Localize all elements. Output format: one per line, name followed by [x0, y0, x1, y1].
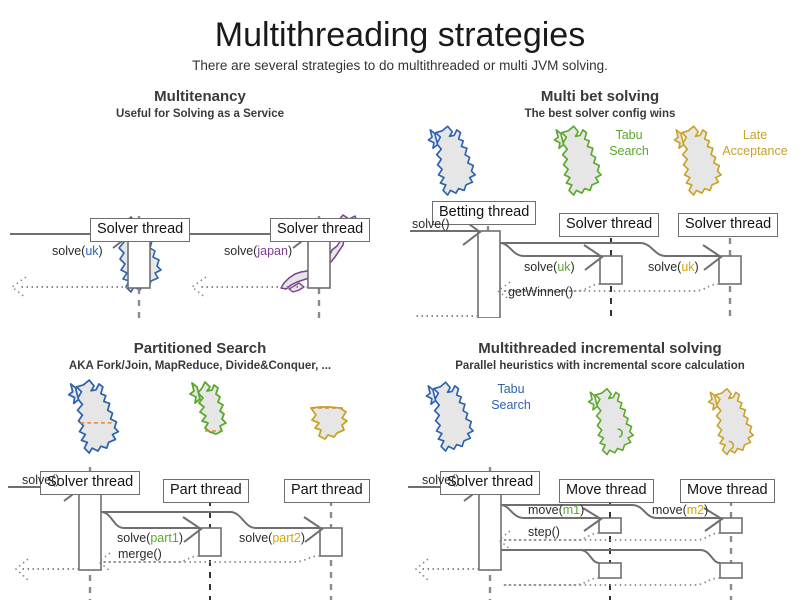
- panel-partitioned-search: Partitioned Search AKA Fork/Join, MapRed…: [0, 340, 400, 600]
- call-prefix: move(: [652, 503, 687, 517]
- lifeline-label: Solver thread: [47, 474, 133, 490]
- call-prefix: solve(: [524, 260, 557, 274]
- multitenancy-sequence-diagram: [0, 88, 400, 318]
- call-suffix: ): [695, 260, 699, 274]
- call-label-solve-part2: solve(part2): [239, 532, 305, 545]
- lifeline-label: Solver thread: [277, 221, 363, 237]
- lifeline-label: Move thread: [687, 482, 768, 498]
- call-suffix: ): [704, 503, 708, 517]
- call-prefix: solve(: [224, 244, 257, 258]
- call-arg: uk: [85, 244, 98, 258]
- call-label-solve-japan: solve(japan): [224, 245, 292, 258]
- call-prefix: solve(: [648, 260, 681, 274]
- lifeline-label: Solver thread: [97, 221, 183, 237]
- call-prefix: step(): [528, 525, 560, 539]
- page-subtitle: There are several strategies to do multi…: [0, 58, 800, 73]
- lifeline-label: Part thread: [291, 482, 363, 498]
- call-prefix: move(: [528, 503, 563, 517]
- call-prefix: solve(: [117, 531, 150, 545]
- call-arg: uk: [557, 260, 570, 274]
- lifeline-label: Solver thread: [447, 474, 533, 490]
- call-prefix: merge(): [118, 547, 162, 561]
- call-suffix: ): [288, 244, 292, 258]
- call-suffix: ): [99, 244, 103, 258]
- lifeline-part-thread-1[interactable]: Part thread: [163, 479, 249, 503]
- call-suffix: ): [301, 531, 305, 545]
- call-suffix: ): [571, 260, 575, 274]
- panel-multi-bet-solving: Multi bet solving The best solver config…: [400, 88, 800, 318]
- lifeline-solver-thread-1[interactable]: Solver thread: [90, 218, 190, 242]
- call-label-solve: solve(): [22, 474, 60, 487]
- call-label-solve: solve(): [412, 218, 450, 231]
- lifeline-move-thread-2[interactable]: Move thread: [680, 479, 775, 503]
- call-prefix: solve(): [22, 473, 60, 487]
- lifeline-label: Solver thread: [685, 216, 771, 232]
- multithreaded-incremental-sequence-diagram: [400, 340, 800, 600]
- call-label-merge: merge(): [118, 548, 162, 561]
- call-arg: m2: [687, 503, 704, 517]
- call-label-step: step(): [528, 526, 560, 539]
- lifeline-label: Solver thread: [566, 216, 652, 232]
- call-label-solve: solve(): [422, 474, 460, 487]
- call-label-move-m1: move(m1): [528, 504, 584, 517]
- call-prefix: solve(: [239, 531, 272, 545]
- call-label-solve-part1: solve(part1): [117, 532, 183, 545]
- lifeline-label: Betting thread: [439, 204, 529, 220]
- panel-multitenancy: Multitenancy Useful for Solving as a Ser…: [0, 88, 400, 318]
- call-prefix: solve(): [412, 217, 450, 231]
- lifeline-solver-thread-1[interactable]: Solver thread: [559, 213, 659, 237]
- call-arg: japan: [257, 244, 288, 258]
- call-prefix: getWinner(): [508, 285, 573, 299]
- lifeline-move-thread-1[interactable]: Move thread: [559, 479, 654, 503]
- call-label-solve-uk: solve(uk): [52, 245, 103, 258]
- call-arg: uk: [681, 260, 694, 274]
- page-title: Multithreading strategies: [0, 16, 800, 55]
- lifeline-solver-thread-2[interactable]: Solver thread: [270, 218, 370, 242]
- partitioned-search-sequence-diagram: [0, 340, 400, 600]
- call-label-solve-uk-gold: solve(uk): [648, 261, 699, 274]
- call-prefix: solve(): [422, 473, 460, 487]
- lifeline-label: Move thread: [566, 482, 647, 498]
- call-suffix: ): [179, 531, 183, 545]
- call-label-get-winner: getWinner(): [508, 286, 573, 299]
- call-label-move-m2: move(m2): [652, 504, 708, 517]
- lifeline-label: Part thread: [170, 482, 242, 498]
- lifeline-solver-thread-2[interactable]: Solver thread: [678, 213, 778, 237]
- call-prefix: solve(: [52, 244, 85, 258]
- call-suffix: ): [580, 503, 584, 517]
- call-arg: m1: [563, 503, 580, 517]
- call-arg: part2: [272, 531, 301, 545]
- call-label-solve-uk-green: solve(uk): [524, 261, 575, 274]
- call-arg: part1: [150, 531, 179, 545]
- lifeline-part-thread-2[interactable]: Part thread: [284, 479, 370, 503]
- panel-multithreaded-incremental-solving: Multithreaded incremental solving Parall…: [400, 340, 800, 600]
